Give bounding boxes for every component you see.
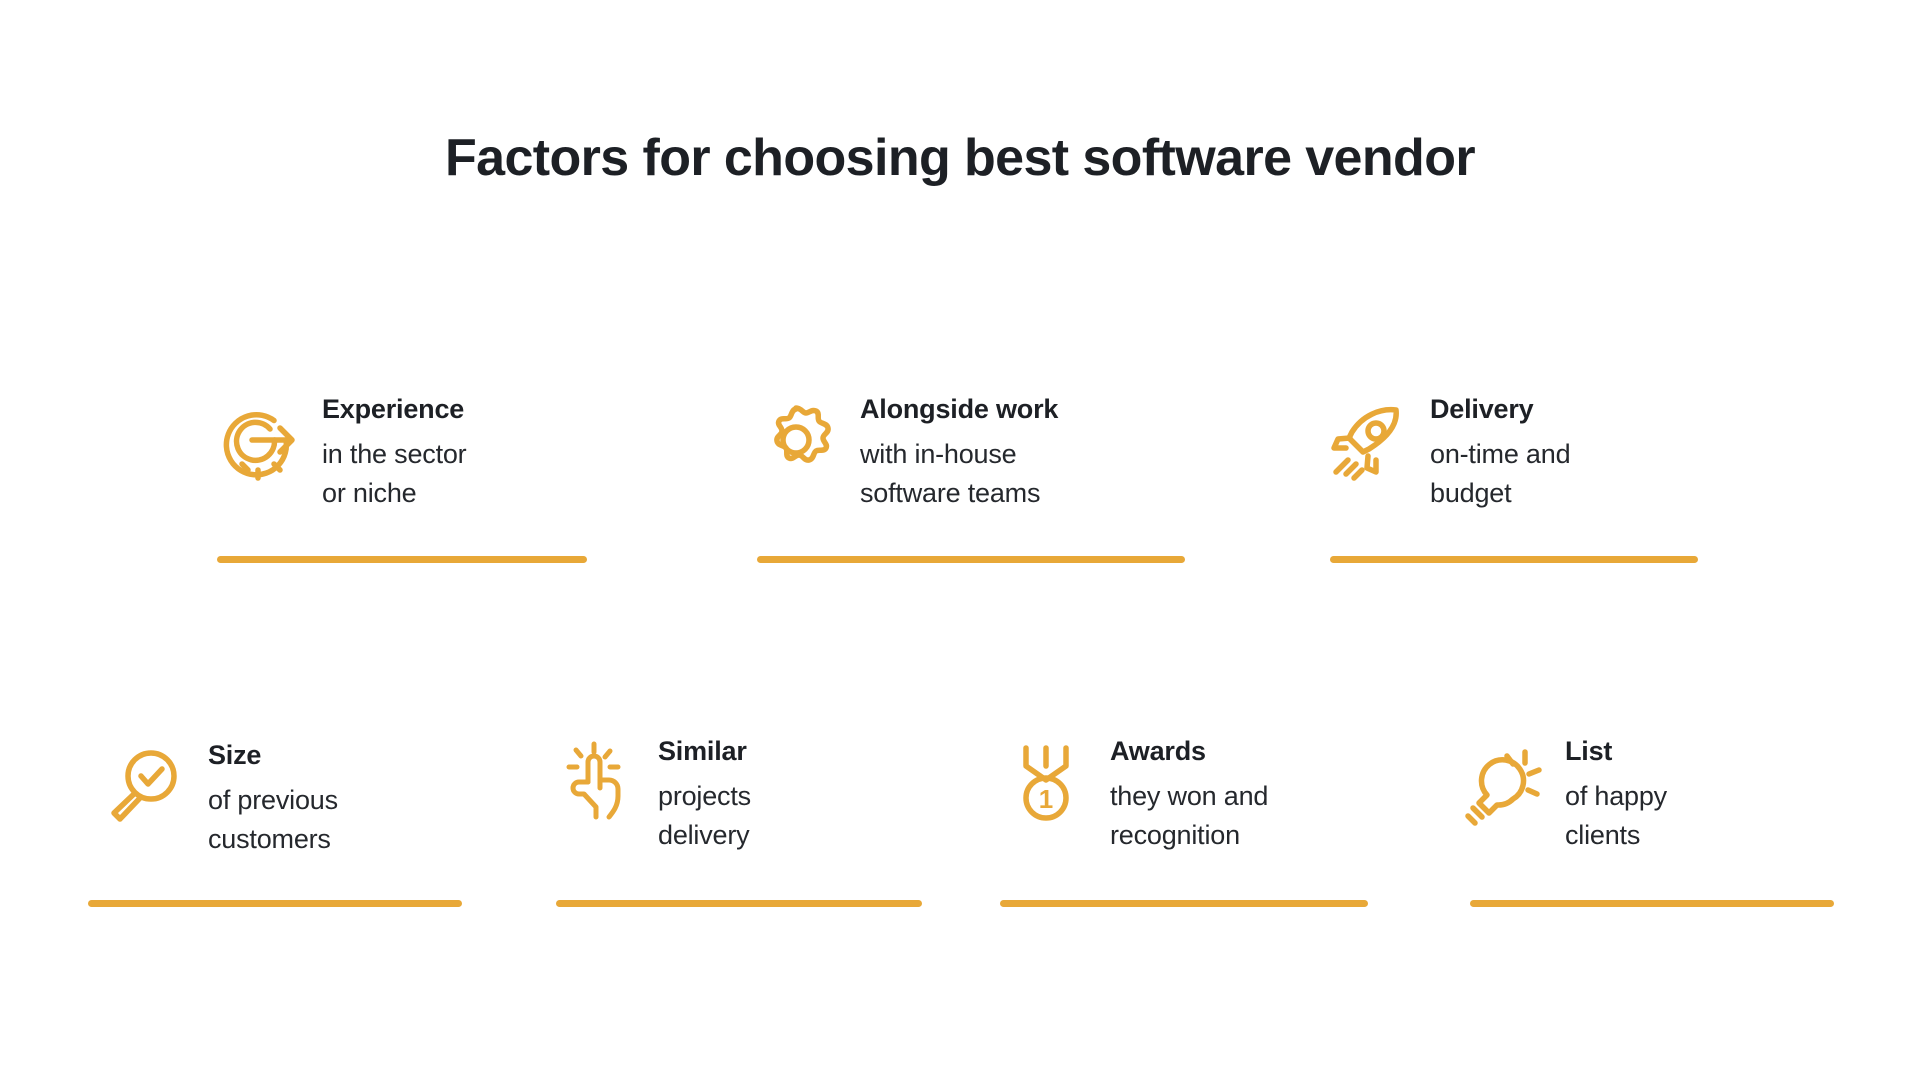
card-line-2: clients xyxy=(1565,816,1667,855)
card-body: Size of previous customers xyxy=(98,740,338,859)
card-text: List of happy clients xyxy=(1565,736,1667,855)
card-body: List of happy clients xyxy=(1455,736,1667,855)
card-text: Experience in the sector or niche xyxy=(322,394,466,513)
card-heading: List xyxy=(1565,738,1667,765)
card-line-1: of happy xyxy=(1565,777,1667,816)
card-heading: Alongside work xyxy=(860,396,1058,423)
card-heading: Similar xyxy=(658,738,751,765)
card-heading: Delivery xyxy=(1430,396,1570,423)
magnifier-check-icon xyxy=(98,740,190,832)
card-similar[interactable]: Similar projects delivery xyxy=(548,736,751,855)
card-underline-alongside-work xyxy=(757,556,1185,563)
card-line-2: budget xyxy=(1430,474,1570,513)
card-underline-similar xyxy=(556,900,922,907)
card-line-2: software teams xyxy=(860,474,1058,513)
card-text: Size of previous customers xyxy=(208,740,338,859)
card-body: Experience in the sector or niche xyxy=(212,394,466,513)
card-heading: Experience xyxy=(322,396,466,423)
medal-icon: 1 xyxy=(1000,736,1092,828)
card-text: Similar projects delivery xyxy=(658,736,751,855)
card-line-2: or niche xyxy=(322,474,466,513)
target-arrow-icon xyxy=(212,394,304,486)
page-title: Factors for choosing best software vendo… xyxy=(0,128,1920,188)
card-underline-awards xyxy=(1000,900,1368,907)
card-text: Alongside work with in-house software te… xyxy=(860,394,1058,513)
card-line-2: delivery xyxy=(658,816,751,855)
card-experience[interactable]: Experience in the sector or niche xyxy=(212,394,466,513)
card-line-1: in the sector xyxy=(322,435,466,474)
card-heading: Size xyxy=(208,742,338,769)
card-underline-experience xyxy=(217,556,587,563)
card-line-1: of previous xyxy=(208,781,338,820)
card-alongside-work[interactable]: Alongside work with in-house software te… xyxy=(750,394,1058,513)
card-body: Delivery on-time and budget xyxy=(1320,394,1570,513)
card-line-1: with in-house xyxy=(860,435,1058,474)
card-text: Awards they won and recognition xyxy=(1110,736,1268,855)
card-heading: Awards xyxy=(1110,738,1268,765)
card-underline-list xyxy=(1470,900,1834,907)
card-body: 1 Awards they won and recognition xyxy=(1000,736,1268,855)
card-text: Delivery on-time and budget xyxy=(1430,394,1570,513)
card-delivery[interactable]: Delivery on-time and budget xyxy=(1320,394,1570,513)
card-body: Alongside work with in-house software te… xyxy=(750,394,1058,513)
rocket-icon xyxy=(1320,394,1412,486)
infographic-slide: Factors for choosing best software vendo… xyxy=(0,0,1920,1080)
tap-hand-icon xyxy=(548,736,640,828)
card-line-2: recognition xyxy=(1110,816,1268,855)
card-awards[interactable]: 1 Awards they won and recognition xyxy=(1000,736,1268,855)
card-line-2: customers xyxy=(208,820,338,859)
card-line-1: projects xyxy=(658,777,751,816)
card-line-1: they won and xyxy=(1110,777,1268,816)
card-size[interactable]: Size of previous customers xyxy=(98,740,338,859)
lightbulb-icon xyxy=(1455,736,1547,828)
card-body: Similar projects delivery xyxy=(548,736,751,855)
card-list[interactable]: List of happy clients xyxy=(1455,736,1667,855)
card-underline-size xyxy=(88,900,462,907)
card-underline-delivery xyxy=(1330,556,1698,563)
medal-number: 1 xyxy=(1039,784,1053,814)
gear-icon xyxy=(750,394,842,486)
card-line-1: on-time and xyxy=(1430,435,1570,474)
